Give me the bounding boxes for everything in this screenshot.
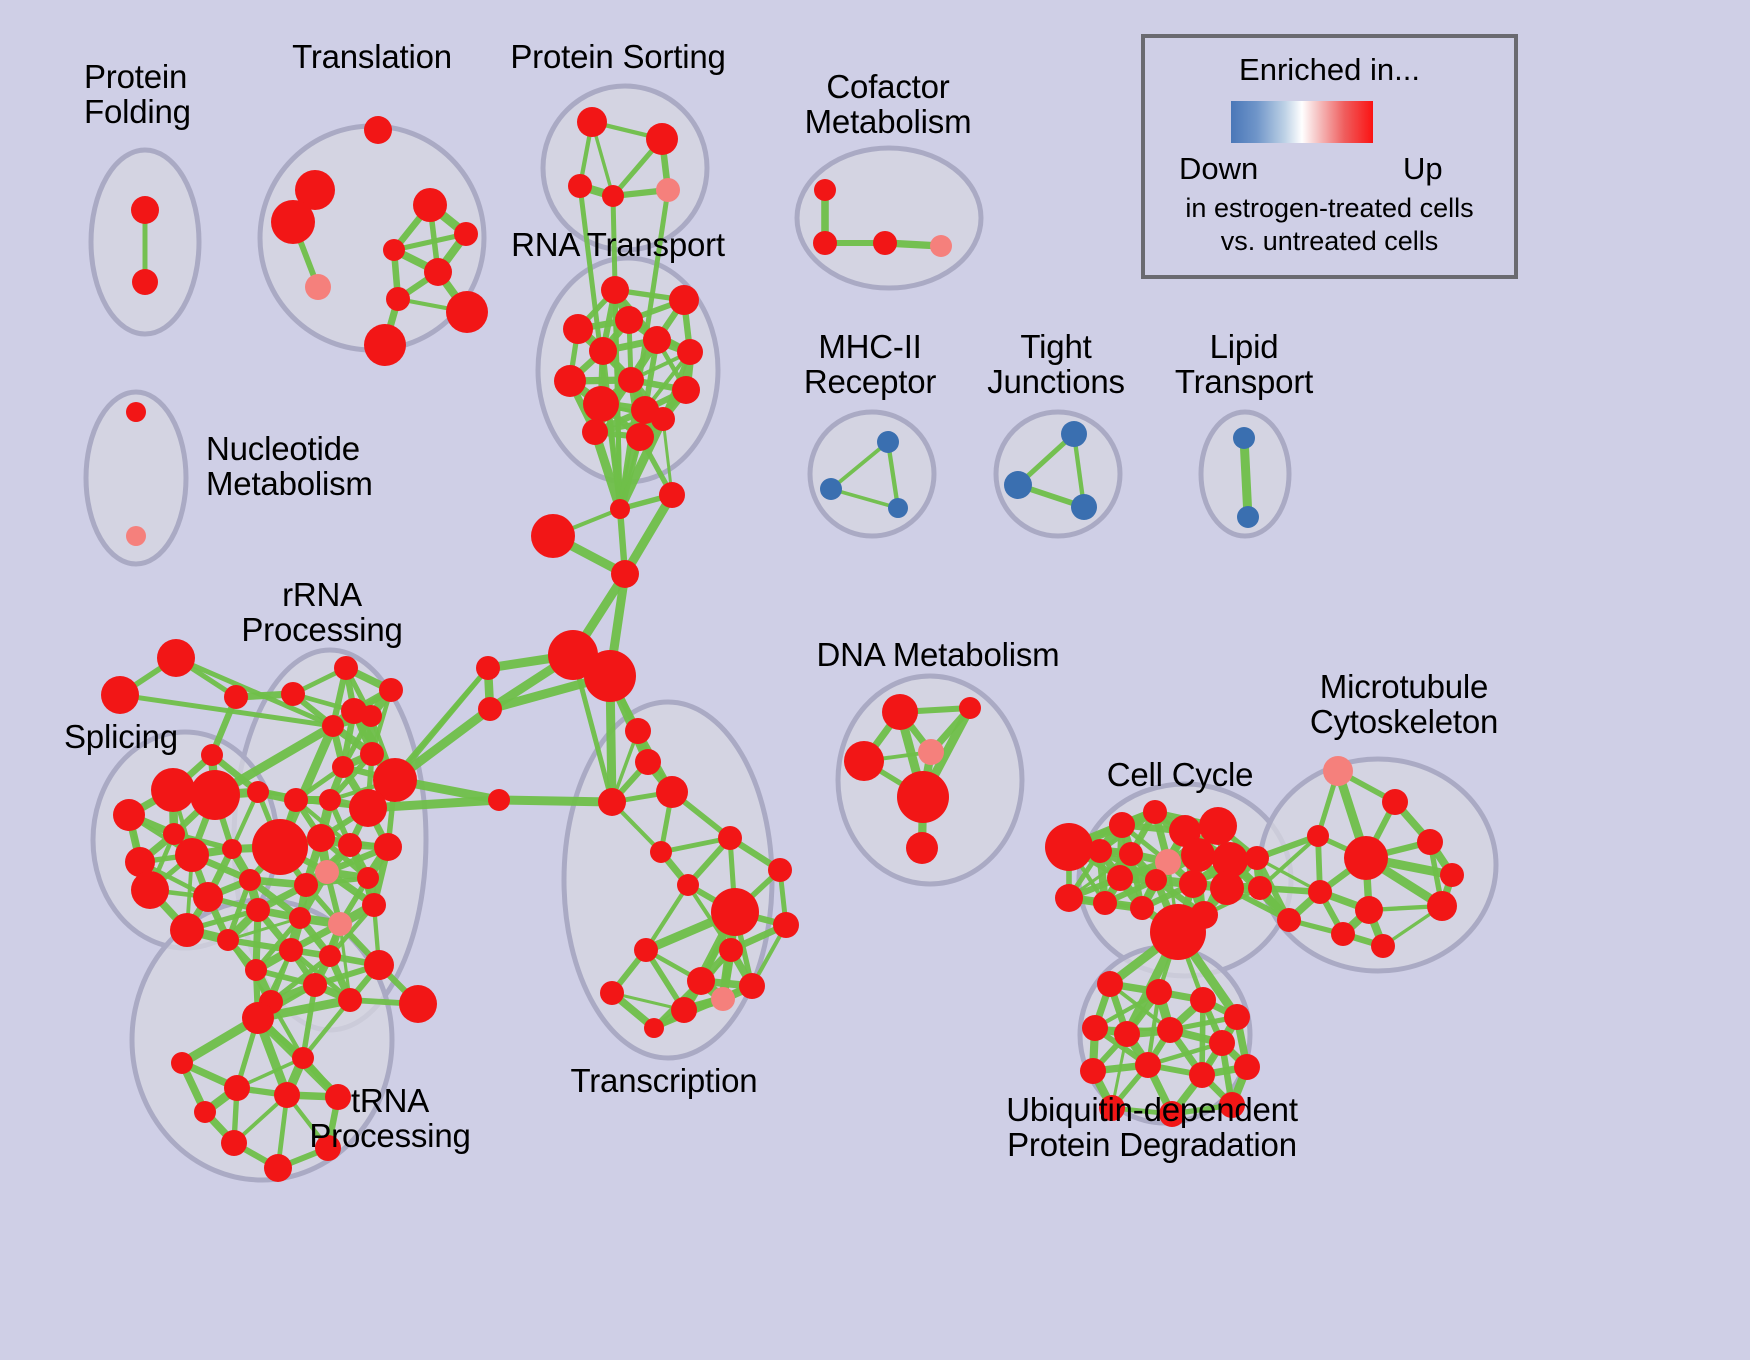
- network-node[interactable]: [386, 287, 410, 311]
- network-node[interactable]: [1355, 896, 1383, 924]
- network-node[interactable]: [650, 841, 672, 863]
- network-node[interactable]: [610, 499, 630, 519]
- network-node[interactable]: [362, 893, 386, 917]
- cluster-label-microtubule-cytoskeleton: Microtubule Cytoskeleton: [1310, 670, 1498, 740]
- network-node[interactable]: [625, 718, 651, 744]
- network-node[interactable]: [651, 407, 675, 431]
- network-node[interactable]: [1045, 823, 1093, 871]
- network-node[interactable]: [307, 824, 335, 852]
- network-node[interactable]: [274, 1082, 300, 1108]
- network-node[interactable]: [246, 898, 270, 922]
- network-node[interactable]: [646, 123, 678, 155]
- network-node[interactable]: [1190, 987, 1216, 1013]
- network-node[interactable]: [413, 188, 447, 222]
- network-node[interactable]: [897, 771, 949, 823]
- network-node[interactable]: [338, 833, 362, 857]
- network-node[interactable]: [644, 1018, 664, 1038]
- network-node[interactable]: [322, 715, 344, 737]
- network-node[interactable]: [126, 526, 146, 546]
- network-node[interactable]: [626, 423, 654, 451]
- network-node[interactable]: [151, 768, 195, 812]
- network-node[interactable]: [224, 1075, 250, 1101]
- network-node[interactable]: [1157, 1017, 1183, 1043]
- network-node[interactable]: [157, 639, 195, 677]
- network-node[interactable]: [131, 871, 169, 909]
- network-node[interactable]: [1109, 812, 1135, 838]
- network-node[interactable]: [583, 386, 619, 422]
- network-node[interactable]: [563, 314, 593, 344]
- network-node[interactable]: [383, 239, 405, 261]
- cluster-label-cofactor-metabolism: Cofactor Metabolism: [805, 70, 972, 140]
- network-node[interactable]: [615, 306, 643, 334]
- network-node[interactable]: [424, 258, 452, 286]
- network-node[interactable]: [918, 739, 944, 765]
- network-node[interactable]: [132, 269, 158, 295]
- network-node[interactable]: [1119, 842, 1143, 866]
- network-node[interactable]: [1210, 871, 1244, 905]
- cluster-label-ubiquitin-protein-degradation: Ubiquitin-dependent Protein Degradation: [1006, 1093, 1298, 1163]
- network-node[interactable]: [656, 178, 680, 202]
- network-node[interactable]: [718, 826, 742, 850]
- network-node[interactable]: [601, 276, 629, 304]
- network-node[interactable]: [279, 938, 303, 962]
- network-node[interactable]: [217, 929, 239, 951]
- cluster-label-transcription: Transcription: [571, 1064, 758, 1099]
- network-node[interactable]: [131, 196, 159, 224]
- network-node[interactable]: [271, 200, 315, 244]
- network-node[interactable]: [374, 833, 402, 861]
- network-node[interactable]: [672, 376, 700, 404]
- network-node[interactable]: [446, 291, 488, 333]
- network-node[interactable]: [1080, 1058, 1106, 1084]
- network-node[interactable]: [379, 678, 403, 702]
- network-node[interactable]: [1331, 922, 1355, 946]
- network-node[interactable]: [589, 337, 617, 365]
- network-node[interactable]: [245, 959, 267, 981]
- cluster-label-protein-folding: Protein Folding: [84, 60, 191, 130]
- legend-subtitle-line1: in estrogen-treated cells: [1145, 193, 1514, 224]
- network-node[interactable]: [677, 874, 699, 896]
- cluster-label-rrna-processing: rRNA Processing: [241, 578, 402, 648]
- network-node[interactable]: [1107, 865, 1133, 891]
- network-node[interactable]: [170, 913, 204, 947]
- network-node[interactable]: [294, 873, 318, 897]
- network-node[interactable]: [1277, 908, 1301, 932]
- network-node[interactable]: [476, 656, 500, 680]
- legend-box: Enriched in... Down Up in estrogen-treat…: [1141, 34, 1518, 279]
- network-node[interactable]: [360, 742, 384, 766]
- cluster-label-translation: Translation: [292, 40, 452, 75]
- network-node[interactable]: [1114, 1021, 1140, 1047]
- network-node[interactable]: [820, 478, 842, 500]
- legend-color-gradient-bar: [1231, 101, 1373, 143]
- network-node[interactable]: [281, 682, 305, 706]
- network-node[interactable]: [357, 867, 379, 889]
- network-node[interactable]: [677, 339, 703, 365]
- network-node[interactable]: [1427, 891, 1457, 921]
- network-node[interactable]: [1245, 846, 1269, 870]
- network-node[interactable]: [252, 819, 308, 875]
- cluster-label-cell-cycle: Cell Cycle: [1107, 758, 1254, 793]
- network-node[interactable]: [1308, 880, 1332, 904]
- network-node[interactable]: [171, 1052, 193, 1074]
- network-node[interactable]: [1146, 979, 1172, 1005]
- network-node[interactable]: [568, 174, 592, 198]
- network-node[interactable]: [1061, 421, 1087, 447]
- network-node[interactable]: [1097, 971, 1123, 997]
- network-node[interactable]: [399, 985, 437, 1023]
- network-node[interactable]: [1382, 789, 1408, 815]
- cluster-label-tight-junctions: Tight Junctions: [987, 330, 1125, 400]
- network-node[interactable]: [315, 860, 339, 884]
- network-node[interactable]: [349, 789, 387, 827]
- network-node[interactable]: [659, 482, 685, 508]
- network-node[interactable]: [906, 832, 938, 864]
- network-node[interactable]: [1135, 1052, 1161, 1078]
- network-node[interactable]: [303, 973, 327, 997]
- network-node[interactable]: [1209, 1030, 1235, 1056]
- network-node[interactable]: [554, 365, 586, 397]
- cluster-label-lipid-transport: Lipid Transport: [1175, 330, 1313, 400]
- cluster-label-protein-sorting: Protein Sorting: [510, 40, 725, 75]
- network-node[interactable]: [454, 222, 478, 246]
- network-node[interactable]: [305, 274, 331, 300]
- cluster-hull: [564, 702, 772, 1058]
- network-node[interactable]: [671, 997, 697, 1023]
- network-node[interactable]: [1307, 825, 1329, 847]
- network-node[interactable]: [888, 498, 908, 518]
- network-node[interactable]: [478, 697, 502, 721]
- network-node[interactable]: [598, 788, 626, 816]
- network-node[interactable]: [882, 694, 918, 730]
- network-node[interactable]: [634, 938, 658, 962]
- network-node[interactable]: [488, 789, 510, 811]
- network-node[interactable]: [264, 1154, 292, 1182]
- network-node[interactable]: [1248, 876, 1272, 900]
- cluster-label-mhc-ii-receptor: MHC-II Receptor: [804, 330, 936, 400]
- network-node[interactable]: [364, 116, 392, 144]
- network-node[interactable]: [113, 799, 145, 831]
- legend-subtitle-line2: vs. untreated cells: [1145, 226, 1514, 257]
- network-node[interactable]: [334, 656, 358, 680]
- network-node[interactable]: [1004, 471, 1032, 499]
- network-node[interactable]: [1055, 884, 1083, 912]
- network-node[interactable]: [284, 788, 308, 812]
- network-node[interactable]: [242, 1002, 274, 1034]
- network-node[interactable]: [126, 402, 146, 422]
- network-node[interactable]: [101, 676, 139, 714]
- network-node[interactable]: [1237, 506, 1259, 528]
- network-node[interactable]: [222, 839, 242, 859]
- network-node[interactable]: [224, 685, 248, 709]
- network-node[interactable]: [768, 858, 792, 882]
- network-node[interactable]: [959, 697, 981, 719]
- network-node[interactable]: [602, 185, 624, 207]
- network-node[interactable]: [1189, 1062, 1215, 1088]
- network-node[interactable]: [190, 770, 240, 820]
- network-node[interactable]: [719, 938, 743, 962]
- network-node[interactable]: [643, 326, 671, 354]
- network-node[interactable]: [328, 912, 352, 936]
- network-node[interactable]: [319, 789, 341, 811]
- network-node[interactable]: [773, 912, 799, 938]
- network-node[interactable]: [1199, 807, 1237, 845]
- network-node[interactable]: [201, 744, 223, 766]
- network-edge: [1244, 438, 1248, 517]
- cluster-label-splicing: Splicing: [64, 720, 178, 755]
- network-node[interactable]: [1233, 427, 1255, 449]
- network-node[interactable]: [611, 560, 639, 588]
- network-node[interactable]: [194, 1101, 216, 1123]
- network-node[interactable]: [247, 781, 269, 803]
- network-node[interactable]: [656, 776, 688, 808]
- network-node[interactable]: [1071, 494, 1097, 520]
- network-node[interactable]: [1179, 870, 1207, 898]
- network-node[interactable]: [669, 285, 699, 315]
- network-node[interactable]: [844, 741, 884, 781]
- network-node[interactable]: [1190, 901, 1218, 929]
- network-node[interactable]: [1234, 1054, 1260, 1080]
- network-node[interactable]: [531, 514, 575, 558]
- network-node[interactable]: [1417, 829, 1443, 855]
- network-node[interactable]: [600, 981, 624, 1005]
- enrichment-map-figure: Protein FoldingTranslationProtein Sortin…: [0, 0, 1750, 1360]
- network-node[interactable]: [193, 882, 223, 912]
- cluster-label-nucleotide-metabolism: Nucleotide Metabolism: [206, 432, 373, 502]
- network-node[interactable]: [577, 107, 607, 137]
- network-node[interactable]: [1440, 863, 1464, 887]
- network-node[interactable]: [582, 419, 608, 445]
- cluster-label-rna-transport: RNA Transport: [511, 228, 725, 263]
- cluster-hull: [810, 412, 934, 536]
- network-node[interactable]: [1323, 756, 1353, 786]
- network-node[interactable]: [175, 838, 209, 872]
- network-node[interactable]: [1371, 934, 1395, 958]
- cluster-label-dna-metabolism: DNA Metabolism: [817, 638, 1060, 673]
- network-node[interactable]: [873, 231, 897, 255]
- network-node[interactable]: [1143, 800, 1167, 824]
- network-node[interactable]: [360, 705, 382, 727]
- network-node[interactable]: [221, 1130, 247, 1156]
- network-node[interactable]: [292, 1047, 314, 1069]
- network-node[interactable]: [739, 973, 765, 999]
- network-node[interactable]: [1224, 1004, 1250, 1030]
- network-node[interactable]: [1130, 896, 1154, 920]
- network-node[interactable]: [1082, 1015, 1108, 1041]
- network-node[interactable]: [364, 950, 394, 980]
- network-node[interactable]: [711, 888, 759, 936]
- network-node[interactable]: [635, 749, 661, 775]
- legend-title: Enriched in...: [1145, 52, 1514, 88]
- legend-low-label: Down: [1179, 151, 1258, 187]
- network-node[interactable]: [584, 650, 636, 702]
- network-edge: [499, 800, 612, 802]
- network-node[interactable]: [1344, 836, 1388, 880]
- network-node[interactable]: [338, 988, 362, 1012]
- network-node[interactable]: [1088, 839, 1112, 863]
- network-node[interactable]: [813, 231, 837, 255]
- network-node[interactable]: [618, 367, 644, 393]
- legend-high-label: Up: [1403, 151, 1443, 187]
- network-node[interactable]: [930, 235, 952, 257]
- network-node[interactable]: [877, 431, 899, 453]
- network-node[interactable]: [1145, 869, 1167, 891]
- network-node[interactable]: [239, 869, 261, 891]
- network-node[interactable]: [364, 324, 406, 366]
- network-node[interactable]: [711, 987, 735, 1011]
- network-node[interactable]: [332, 756, 354, 778]
- network-node[interactable]: [319, 945, 341, 967]
- network-node[interactable]: [687, 967, 715, 995]
- network-node[interactable]: [1181, 838, 1215, 872]
- network-node[interactable]: [814, 179, 836, 201]
- network-node[interactable]: [1093, 891, 1117, 915]
- network-node[interactable]: [289, 907, 311, 929]
- cluster-label-trna-processing: tRNA Processing: [309, 1084, 470, 1154]
